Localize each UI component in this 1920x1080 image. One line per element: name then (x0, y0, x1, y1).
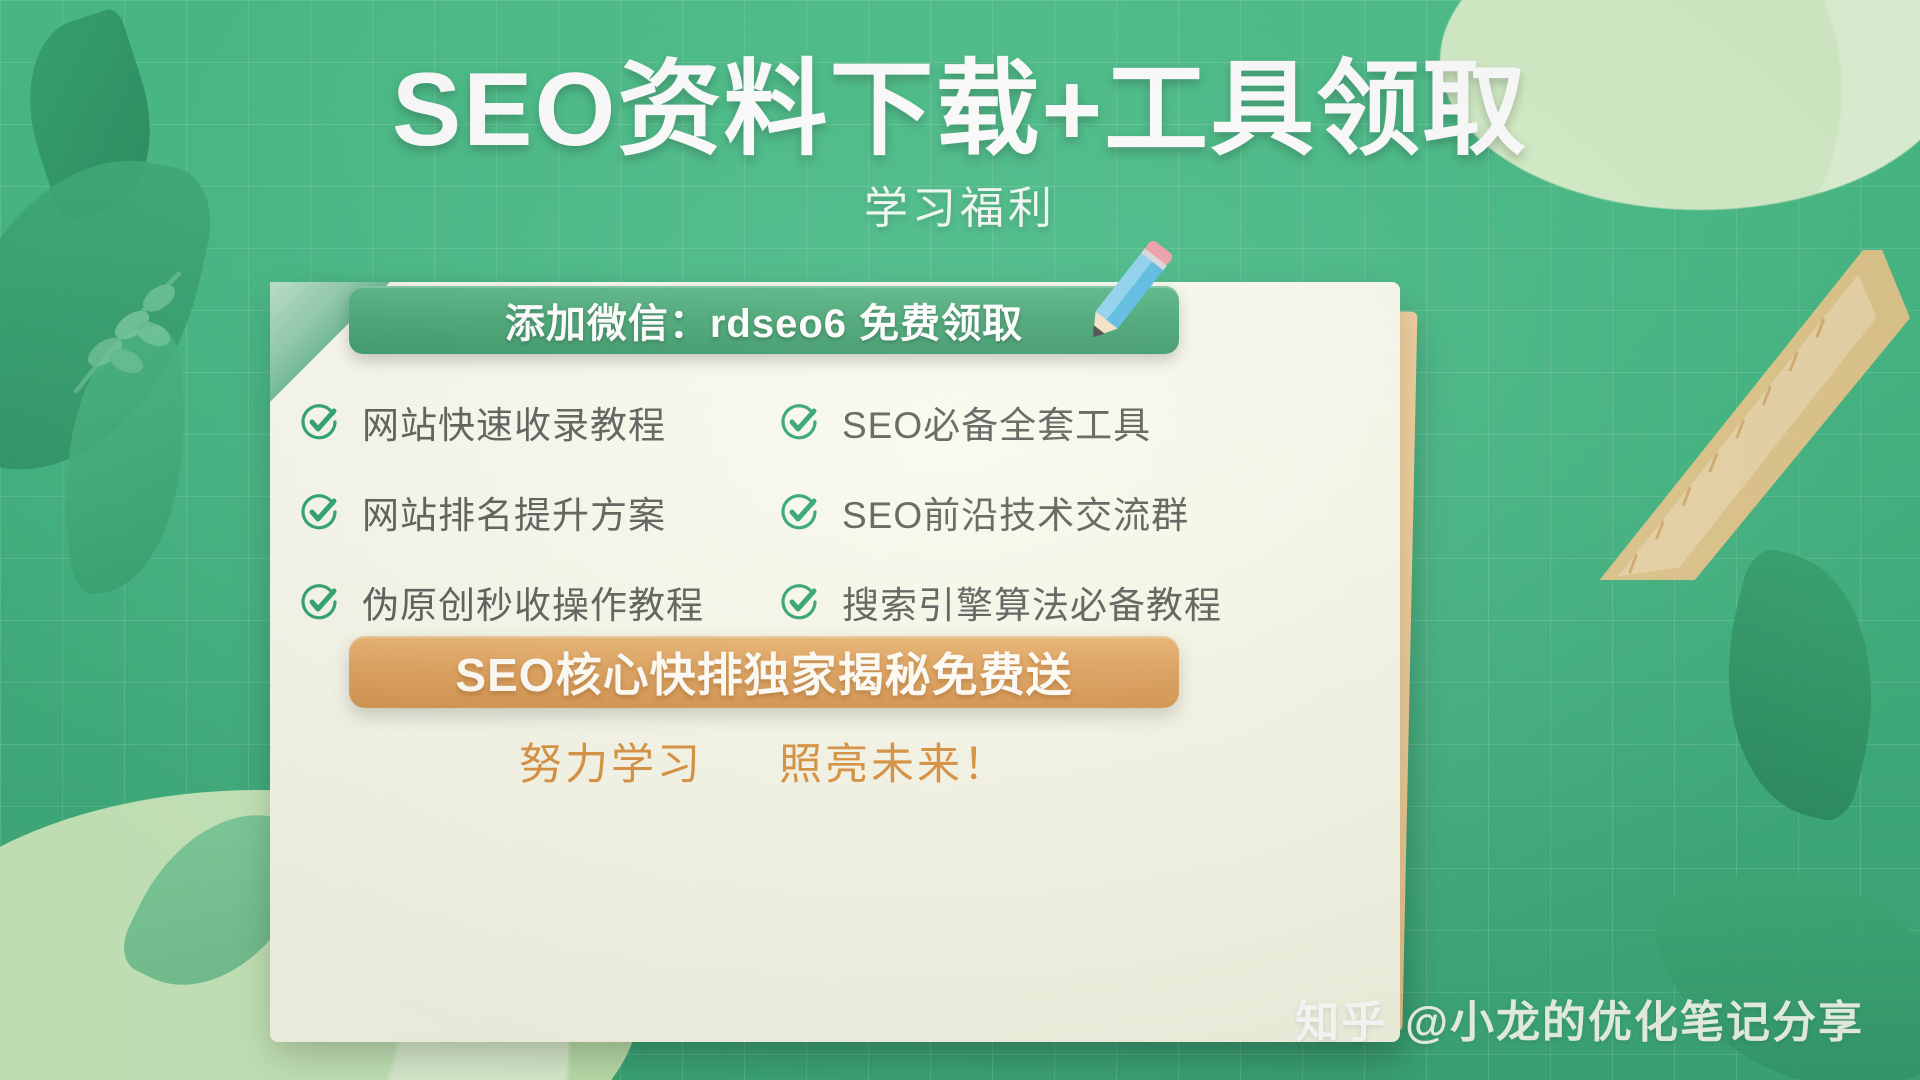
pencil-icon (1070, 228, 1190, 353)
list-item[interactable]: SEO必备全套工具 (780, 395, 1220, 449)
check-circle-icon (300, 402, 340, 442)
list-item-label: 网站排名提升方案 (362, 485, 666, 539)
list-item-label: SEO必备全套工具 (842, 395, 1151, 449)
watermark-platform: 知乎 (1295, 986, 1387, 1050)
list-item-label: SEO前沿技术交流群 (842, 485, 1189, 539)
page-title: SEO资料下载+工具领取 (0, 52, 1920, 168)
list-item[interactable]: 网站快速收录教程 (300, 395, 780, 449)
secondary-cta-label: SEO核心快排独家揭秘免费送 (455, 639, 1072, 705)
check-circle-icon (780, 402, 820, 442)
leaf-decoration-d (1692, 544, 1908, 825)
benefits-list: 网站快速收录教程 SEO必备全套工具 网站排名提升方案 SEO前沿技术交流群 (300, 395, 1300, 629)
list-item-label: 网站快速收录教程 (362, 395, 666, 449)
triangle-ruler-icon (1520, 250, 1920, 580)
poster-canvas: SEO资料下载+工具领取 学习福利 添加微信：rdseo6 免费领取 网站快速收… (0, 0, 1920, 1080)
check-circle-icon (300, 492, 340, 532)
check-circle-icon (780, 492, 820, 532)
slogan-right: 照亮未来！ (779, 741, 1009, 789)
list-item[interactable]: SEO前沿技术交流群 (780, 485, 1220, 539)
wechat-cta-label: 添加微信：rdseo6 免费领取 (505, 291, 1023, 349)
check-circle-icon (780, 582, 820, 622)
slogan-left: 努力学习 (519, 741, 703, 789)
sprig-icon (60, 250, 210, 400)
list-item[interactable]: 搜索引擎算法必备教程 (780, 575, 1220, 629)
list-item[interactable]: 网站排名提升方案 (300, 485, 780, 539)
wechat-cta-button[interactable]: 添加微信：rdseo6 免费领取 (349, 286, 1179, 354)
list-item-label: 搜索引擎算法必备教程 (842, 575, 1222, 629)
secondary-cta-button[interactable]: SEO核心快排独家揭秘免费送 (349, 636, 1179, 708)
watermark: 知乎 @小龙的优化笔记分享 (1295, 986, 1864, 1050)
list-item[interactable]: 伪原创秒收操作教程 (300, 575, 780, 629)
slogan: 努力学习 照亮未来！ (349, 730, 1179, 792)
list-item-label: 伪原创秒收操作教程 (362, 575, 704, 629)
watermark-handle: @小龙的优化笔记分享 (1405, 986, 1864, 1050)
page-subtitle: 学习福利 (0, 172, 1920, 236)
check-circle-icon (300, 582, 340, 622)
